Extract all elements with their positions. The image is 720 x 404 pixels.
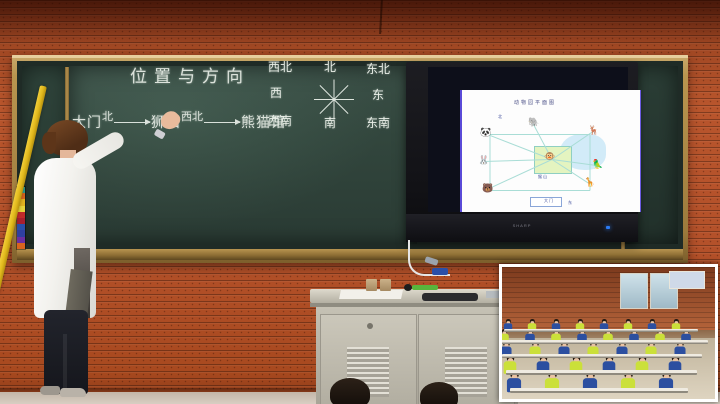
wall-top-shadow (0, 0, 720, 46)
inset-desk-row-3 (506, 370, 697, 375)
compass-label-east: 东 (372, 86, 384, 103)
green-marker-box (412, 285, 438, 290)
zoo-map-diagram: 大门 北 东 🐼🐵🐘🦌🐰🦜🐻🦒猴山 (472, 112, 630, 208)
map-gate-label: 大门 (544, 198, 554, 204)
map-center-label: 猴山 (538, 174, 548, 180)
map-ring-path-0 (490, 134, 590, 135)
map-animal-deer: 🦌 (588, 126, 599, 135)
cup-2 (380, 279, 391, 291)
map-animal-panda: 🐼 (480, 128, 491, 137)
foreground-student-head-2 (420, 382, 458, 404)
teacher-shoe-left (40, 386, 60, 395)
cabinet-countertop-edge (310, 303, 524, 307)
screenshot-root: 位置与方向 大门北狮山西北熊猫馆 西北 北 东北 西 东 西南 南 东南 动物园… (0, 0, 720, 404)
inset-desk-row-0 (504, 329, 698, 333)
map-label-east: 东 (568, 200, 573, 206)
display-screen: 动物园平面图 大门 北 东 🐼🐵🐘🦌🐰🦜🐻🦒猴山 (428, 67, 628, 212)
inset-desk-row-4 (510, 388, 688, 394)
slide-title: 动物园平面图 (514, 99, 556, 106)
inset-desk-row-2 (502, 354, 702, 359)
compass-star-icon (312, 82, 356, 116)
map-animal-giraffe: 🦒 (584, 178, 595, 187)
display-bezel: SHARP (406, 214, 638, 242)
compass-label-northwest: 西北 (268, 58, 292, 75)
compass-rose-diagram: 西北 北 东北 西 东 西南 南 东南 (268, 58, 392, 140)
map-animal-bear: 🐻 (482, 184, 493, 193)
teacher-figure (22, 120, 126, 398)
foreground-student-head-1 (330, 378, 370, 404)
display-brand-logo: SHARP (508, 223, 536, 228)
dark-bag (422, 293, 478, 301)
map-animal-bird: 🦜 (592, 160, 603, 169)
cabinet-top-items (316, 289, 518, 303)
blackboard-title: 位置与方向 (130, 62, 250, 87)
black-object (404, 284, 412, 291)
compass-label-northeast: 东北 (366, 60, 390, 77)
power-led-indicator (606, 226, 610, 229)
compass-label-southwest: 西南 (268, 112, 292, 129)
map-animal-rabbit: 🐰 (478, 156, 489, 165)
inset-video-frame (502, 267, 715, 399)
route-arrow-2 (204, 122, 240, 123)
teacher-shoe-right (60, 388, 86, 397)
compass-label-southeast: 东南 (366, 114, 390, 131)
wall-display-panel[interactable]: 动物园平面图 大门 北 东 🐼🐵🐘🦌🐰🦜🐻🦒猴山 SHARP (406, 62, 638, 242)
inset-wall-poster (669, 271, 705, 289)
compass-label-north: 北 (324, 58, 336, 75)
compass-label-west: 西 (270, 84, 282, 101)
teacher-legs (44, 310, 88, 394)
map-animal-elephant: 🐘 (528, 118, 539, 127)
inset-window-1 (620, 273, 648, 309)
inset-desk-row-1 (502, 340, 708, 344)
presentation-slide: 动物园平面图 大门 北 东 🐼🐵🐘🦌🐰🦜🐻🦒猴山 (460, 90, 641, 212)
student-camera-inset[interactable] (499, 264, 718, 402)
cabinet-lock-icon (367, 323, 373, 329)
cable-plug (432, 268, 448, 275)
map-animal-monkey-house: 🐵 (544, 152, 555, 161)
papers-stack (339, 290, 403, 299)
cup-1 (366, 279, 377, 291)
map-label-north: 北 (498, 114, 503, 120)
map-ring-path-3 (490, 190, 590, 191)
route-leg2-label: 西北 (181, 111, 203, 123)
